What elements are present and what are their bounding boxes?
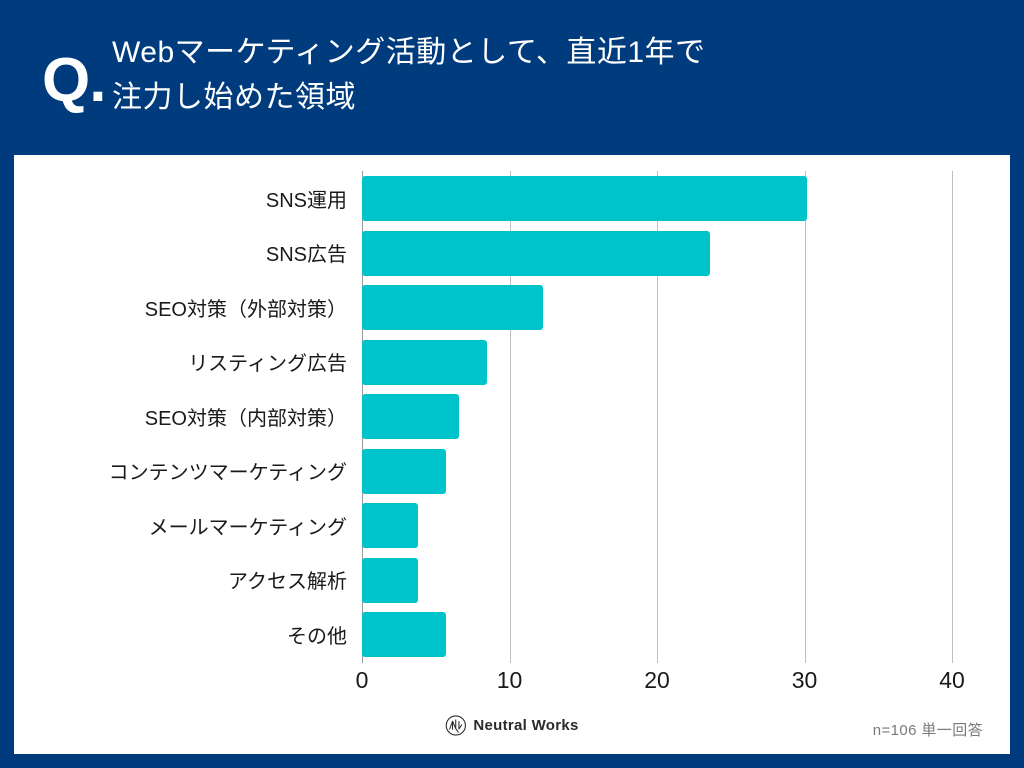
bar	[362, 340, 487, 385]
x-axis-tick-labels: 010203040	[14, 667, 1010, 707]
category-label: SNS広告	[31, 238, 361, 267]
bar-rows: SNS運用SNS広告SEO対策（外部対策）リスティング広告SEO対策（内部対策）…	[14, 171, 1010, 663]
category-label: メールマーケティング	[31, 511, 361, 540]
x-tick-label: 10	[497, 667, 523, 694]
bar	[362, 503, 418, 548]
bar	[362, 558, 418, 603]
bar-row: SNS広告	[14, 226, 1010, 281]
bar-row: SNS運用	[14, 171, 1010, 226]
bar-row: SEO対策（外部対策）	[14, 280, 1010, 335]
category-label: リスティング広告	[31, 347, 361, 376]
bar-row: SEO対策（内部対策）	[14, 389, 1010, 444]
category-label: SNS運用	[31, 184, 361, 213]
bar	[362, 285, 543, 330]
bar	[362, 231, 710, 276]
category-label: コンテンツマーケティング	[31, 456, 361, 485]
category-label: その他	[31, 620, 361, 649]
bar	[362, 612, 446, 657]
bar-row: アクセス解析	[14, 553, 1010, 608]
bar	[362, 176, 807, 221]
x-tick-label: 20	[644, 667, 670, 694]
bar	[362, 449, 446, 494]
question-mark-icon: Q.	[0, 44, 100, 112]
chart-panel: SNS運用SNS広告SEO対策（外部対策）リスティング広告SEO対策（内部対策）…	[14, 155, 1010, 754]
chart-footer: Neutral Works n=106 単一回答	[14, 711, 1010, 754]
logo-icon	[445, 715, 466, 736]
page-title-line-1: Webマーケティング活動として、直近1年で	[112, 31, 706, 75]
bar-row: コンテンツマーケティング	[14, 444, 1010, 499]
plot-area: SNS運用SNS広告SEO対策（外部対策）リスティング広告SEO対策（内部対策）…	[14, 155, 1010, 665]
bar-row: メールマーケティング	[14, 498, 1010, 553]
bar-row: その他	[14, 607, 1010, 662]
slide-root: Q. Webマーケティング活動として、直近1年で 注力し始めた領域 SNS運用S…	[0, 0, 1024, 768]
category-label: アクセス解析	[31, 565, 361, 594]
page-title: Webマーケティング活動として、直近1年で 注力し始めた領域	[100, 31, 706, 124]
x-tick-label: 30	[792, 667, 818, 694]
category-label: SEO対策（外部対策）	[31, 293, 361, 322]
bar-row: リスティング広告	[14, 335, 1010, 390]
logo-text: Neutral Works	[473, 717, 578, 734]
bar	[362, 394, 459, 439]
page-title-line-2: 注力し始めた領域	[112, 76, 706, 120]
x-tick-label: 0	[356, 667, 369, 694]
header-banner: Q. Webマーケティング活動として、直近1年で 注力し始めた領域	[0, 0, 1024, 155]
category-label: SEO対策（内部対策）	[31, 402, 361, 431]
brand-logo: Neutral Works	[445, 715, 578, 736]
x-tick-label: 40	[939, 667, 965, 694]
sample-size-note: n=106 単一回答	[873, 719, 983, 740]
